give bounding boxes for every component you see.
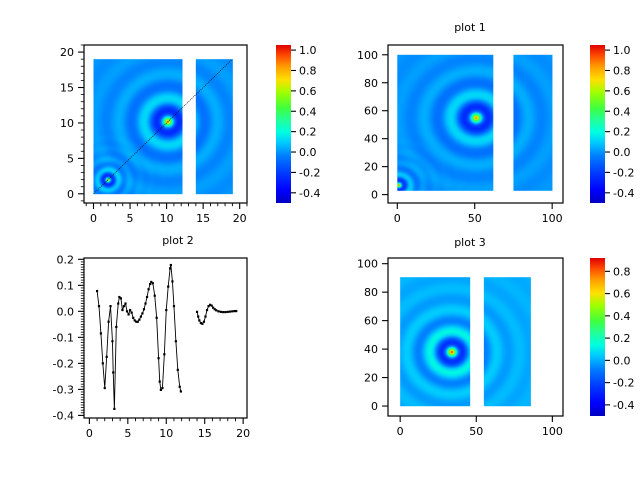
panel-title-plot1: plot 1: [420, 21, 520, 34]
panel-title-plot2: plot 2: [128, 234, 228, 247]
colorbar-ticklabel-3-1: 0.6: [613, 288, 631, 301]
panel-title-plot3: plot 3: [420, 236, 520, 249]
yticklabel-3-4: 80: [364, 286, 378, 299]
colorbar-ticklabel-3-4: 0.0: [613, 354, 631, 367]
figure-canvas: 0510152005101520 1.00.80.60.40.20.0-0.2-…: [0, 0, 640, 480]
colorbar-gradient-3: [590, 258, 605, 416]
yticklabel-3-3: 60: [364, 315, 378, 328]
colorbar-ticklabel-3-0: 0.8: [613, 265, 631, 278]
heatmap-region-3-0: [400, 277, 470, 406]
panel-bottom-right-svg: 050100020406080100 0.80.60.40.20.0-0.2-0…: [0, 0, 640, 480]
heatmap-region-3-1: [484, 277, 531, 406]
colorbar-ticklabel-3-5: -0.2: [613, 377, 634, 390]
yticklabel-3-0: 0: [371, 400, 378, 413]
xticklabel-3-2: 100: [542, 425, 563, 438]
xticklabel-3-1: 50: [469, 425, 483, 438]
yticklabel-3-2: 40: [364, 343, 378, 356]
yticklabel-3-5: 100: [357, 258, 378, 271]
yticklabel-3-1: 20: [364, 372, 378, 385]
heatmap-group-3: [400, 277, 531, 406]
colorbar-ticklabel-3-6: -0.4: [613, 399, 634, 412]
colorbar-ticklabel-3-2: 0.4: [613, 310, 631, 323]
panel-bottom-right: 050100020406080100 0.80.60.40.20.0-0.2-0…: [320, 240, 640, 480]
xticklabel-3-0: 0: [397, 425, 404, 438]
colorbar-group-3: 0.80.60.40.20.0-0.2-0.4: [590, 258, 634, 416]
colorbar-ticklabel-3-3: 0.2: [613, 332, 631, 345]
